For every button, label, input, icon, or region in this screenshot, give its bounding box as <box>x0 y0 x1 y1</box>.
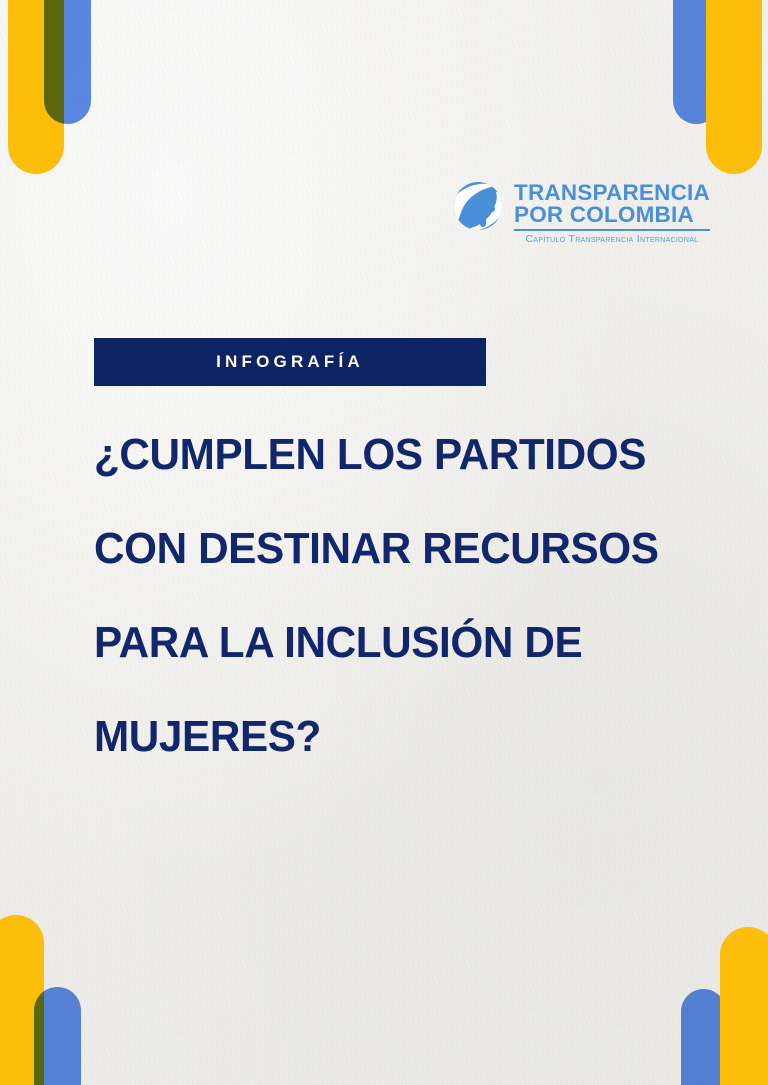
globe-person-icon <box>452 180 504 232</box>
decor-top-left-blue-bar <box>44 0 91 124</box>
organization-logo: TRANSPARENCIA POR COLOMBIA Capítulo Tran… <box>452 180 710 245</box>
logo-line-1: TRANSPARENCIA <box>514 182 710 204</box>
logo-tagline: Capítulo Transparencia Internacional <box>514 233 710 245</box>
decor-bottom-left-blue-bar <box>34 987 81 1085</box>
decor-bottom-right-yellow-bar <box>720 927 768 1085</box>
logo-divider-rule <box>514 229 710 231</box>
logo-wordmark: TRANSPARENCIA POR COLOMBIA Capítulo Tran… <box>514 180 710 245</box>
title-line-1: ¿CUMPLEN LOS PARTIDOS <box>94 408 670 502</box>
logo-line-2: POR COLOMBIA <box>514 204 710 226</box>
infographic-cover-page: TRANSPARENCIA POR COLOMBIA Capítulo Tran… <box>0 0 768 1085</box>
infografia-banner: INFOGRAFÍA <box>94 338 486 386</box>
banner-label: INFOGRAFÍA <box>216 352 364 372</box>
title-line-4: MUJERES? <box>94 690 670 784</box>
title-line-3: PARA LA INCLUSIÓN DE <box>94 596 670 690</box>
title-line-2: CON DESTINAR RECURSOS <box>94 502 670 596</box>
page-title: ¿CUMPLEN LOS PARTIDOS CON DESTINAR RECUR… <box>94 408 694 784</box>
decor-top-right-yellow-bar <box>706 0 762 174</box>
